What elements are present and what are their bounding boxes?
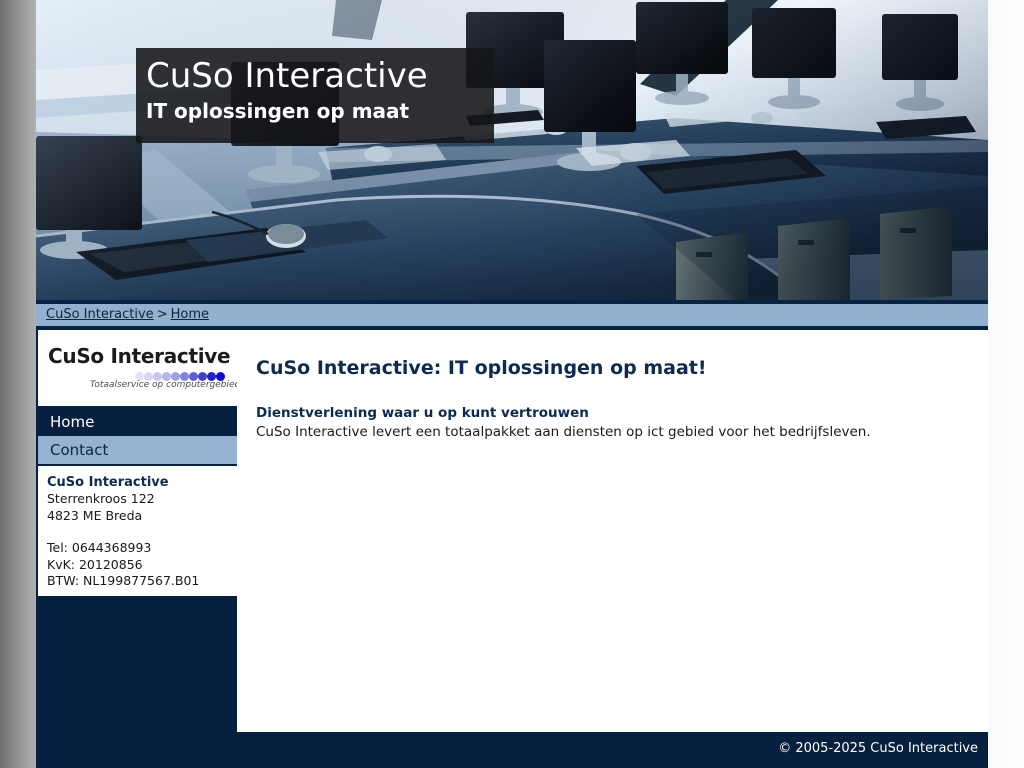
sidebar: CuSo Interactive Totaalservice op comput… xyxy=(36,330,237,732)
sidebar-item-contact[interactable]: Contact xyxy=(38,436,237,464)
contact-telephone: Tel: 0644368993 xyxy=(47,540,237,557)
banner-title: CuSo Interactive xyxy=(146,54,494,98)
site-banner: CuSo Interactive IT oplossingen op maat xyxy=(36,0,988,300)
page-container: CuSo Interactive IT oplossingen op maat … xyxy=(36,0,988,768)
breadcrumb-link-current[interactable]: Home xyxy=(171,307,209,322)
logo-dots-decoration xyxy=(135,366,227,377)
sidebar-nav: Home Contact xyxy=(38,408,237,464)
breadcrumb-bar: CuSo Interactive>Home xyxy=(36,300,988,330)
breadcrumb-separator: > xyxy=(154,307,171,322)
breadcrumb: CuSo Interactive>Home xyxy=(36,304,988,322)
breadcrumb-link-home-root[interactable]: CuSo Interactive xyxy=(46,307,154,322)
footer-copyright: © 2005-2025 CuSo Interactive xyxy=(778,741,978,756)
site-footer: © 2005-2025 CuSo Interactive xyxy=(36,732,988,768)
sidebar-contact-block: CuSo Interactive Sterrenkroos 122 4823 M… xyxy=(38,466,237,596)
main-content: CuSo Interactive: IT oplossingen op maat… xyxy=(237,330,988,732)
banner-title-overlay: CuSo Interactive IT oplossingen op maat xyxy=(136,48,494,143)
contact-spacer xyxy=(47,524,237,540)
content-subheading: Dienstverlening waar u op kunt vertrouwe… xyxy=(256,404,974,422)
contact-street: Sterrenkroos 122 xyxy=(47,491,237,508)
sidebar-item-home[interactable]: Home xyxy=(38,408,237,436)
contact-kvk: KvK: 20120856 xyxy=(47,557,237,574)
content-paragraph: CuSo Interactive levert een totaalpakket… xyxy=(256,423,974,441)
banner-subtitle: IT oplossingen op maat xyxy=(146,98,494,124)
page-title: CuSo Interactive: IT oplossingen op maat… xyxy=(256,356,974,380)
logo-tagline: Totaalservice op computergebied xyxy=(90,380,237,390)
contact-city: 4823 ME Breda xyxy=(47,508,237,525)
banner-photo-computer-lab xyxy=(36,0,988,300)
contact-company-name: CuSo Interactive xyxy=(47,474,237,491)
body-region: CuSo Interactive Totaalservice op comput… xyxy=(36,330,988,732)
site-logo[interactable]: CuSo Interactive Totaalservice op comput… xyxy=(38,330,237,406)
contact-btw: BTW: NL199877567.B01 xyxy=(47,573,237,590)
logo-wordmark: CuSo Interactive xyxy=(48,344,230,368)
